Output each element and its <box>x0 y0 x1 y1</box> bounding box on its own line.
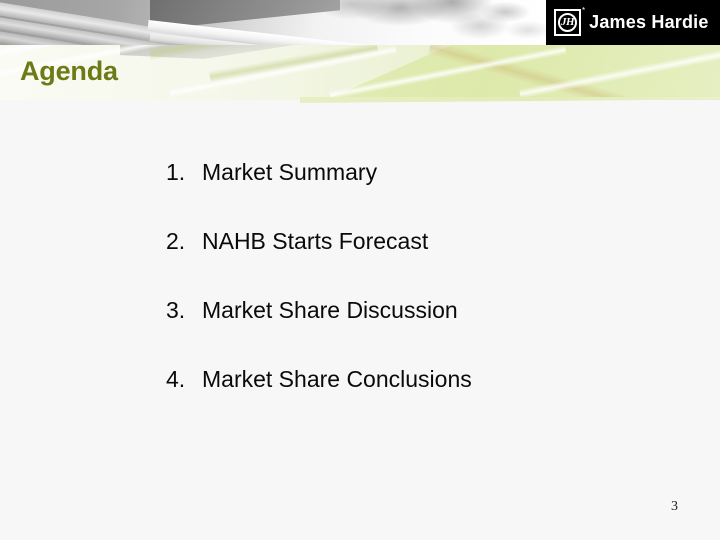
list-item-number: 3. <box>166 298 202 322</box>
slide-page-number: 3 <box>671 500 678 514</box>
list-item-label: Market Share Discussion <box>202 298 458 322</box>
trademark-icon: * <box>582 7 585 15</box>
band-accent-tail <box>300 97 720 103</box>
list-item: 4. Market Share Conclusions <box>166 367 666 436</box>
list-item: 2. NAHB Starts Forecast <box>166 229 666 298</box>
james-hardie-logo: JH * James Hardie <box>546 0 720 45</box>
list-item-label: NAHB Starts Forecast <box>202 229 428 253</box>
agenda-list: 1. Market Summary 2. NAHB Starts Forecas… <box>166 160 666 436</box>
list-item: 3. Market Share Discussion <box>166 298 666 367</box>
list-item-number: 4. <box>166 367 202 391</box>
presentation-slide: JH * James Hardie Agenda 1. Market Summa… <box>0 0 720 540</box>
monogram-ring: JH <box>558 13 577 32</box>
list-item-label: Market Share Conclusions <box>202 367 472 391</box>
list-item-number: 1. <box>166 160 202 184</box>
brand-wordmark: James Hardie <box>589 12 708 33</box>
page-title: Agenda <box>20 58 118 85</box>
james-hardie-circle-monogram-icon: JH <box>554 9 581 36</box>
list-item-label: Market Summary <box>202 160 377 184</box>
monogram-letters: JH <box>561 17 574 28</box>
list-item-number: 2. <box>166 229 202 253</box>
list-item: 1. Market Summary <box>166 160 666 229</box>
